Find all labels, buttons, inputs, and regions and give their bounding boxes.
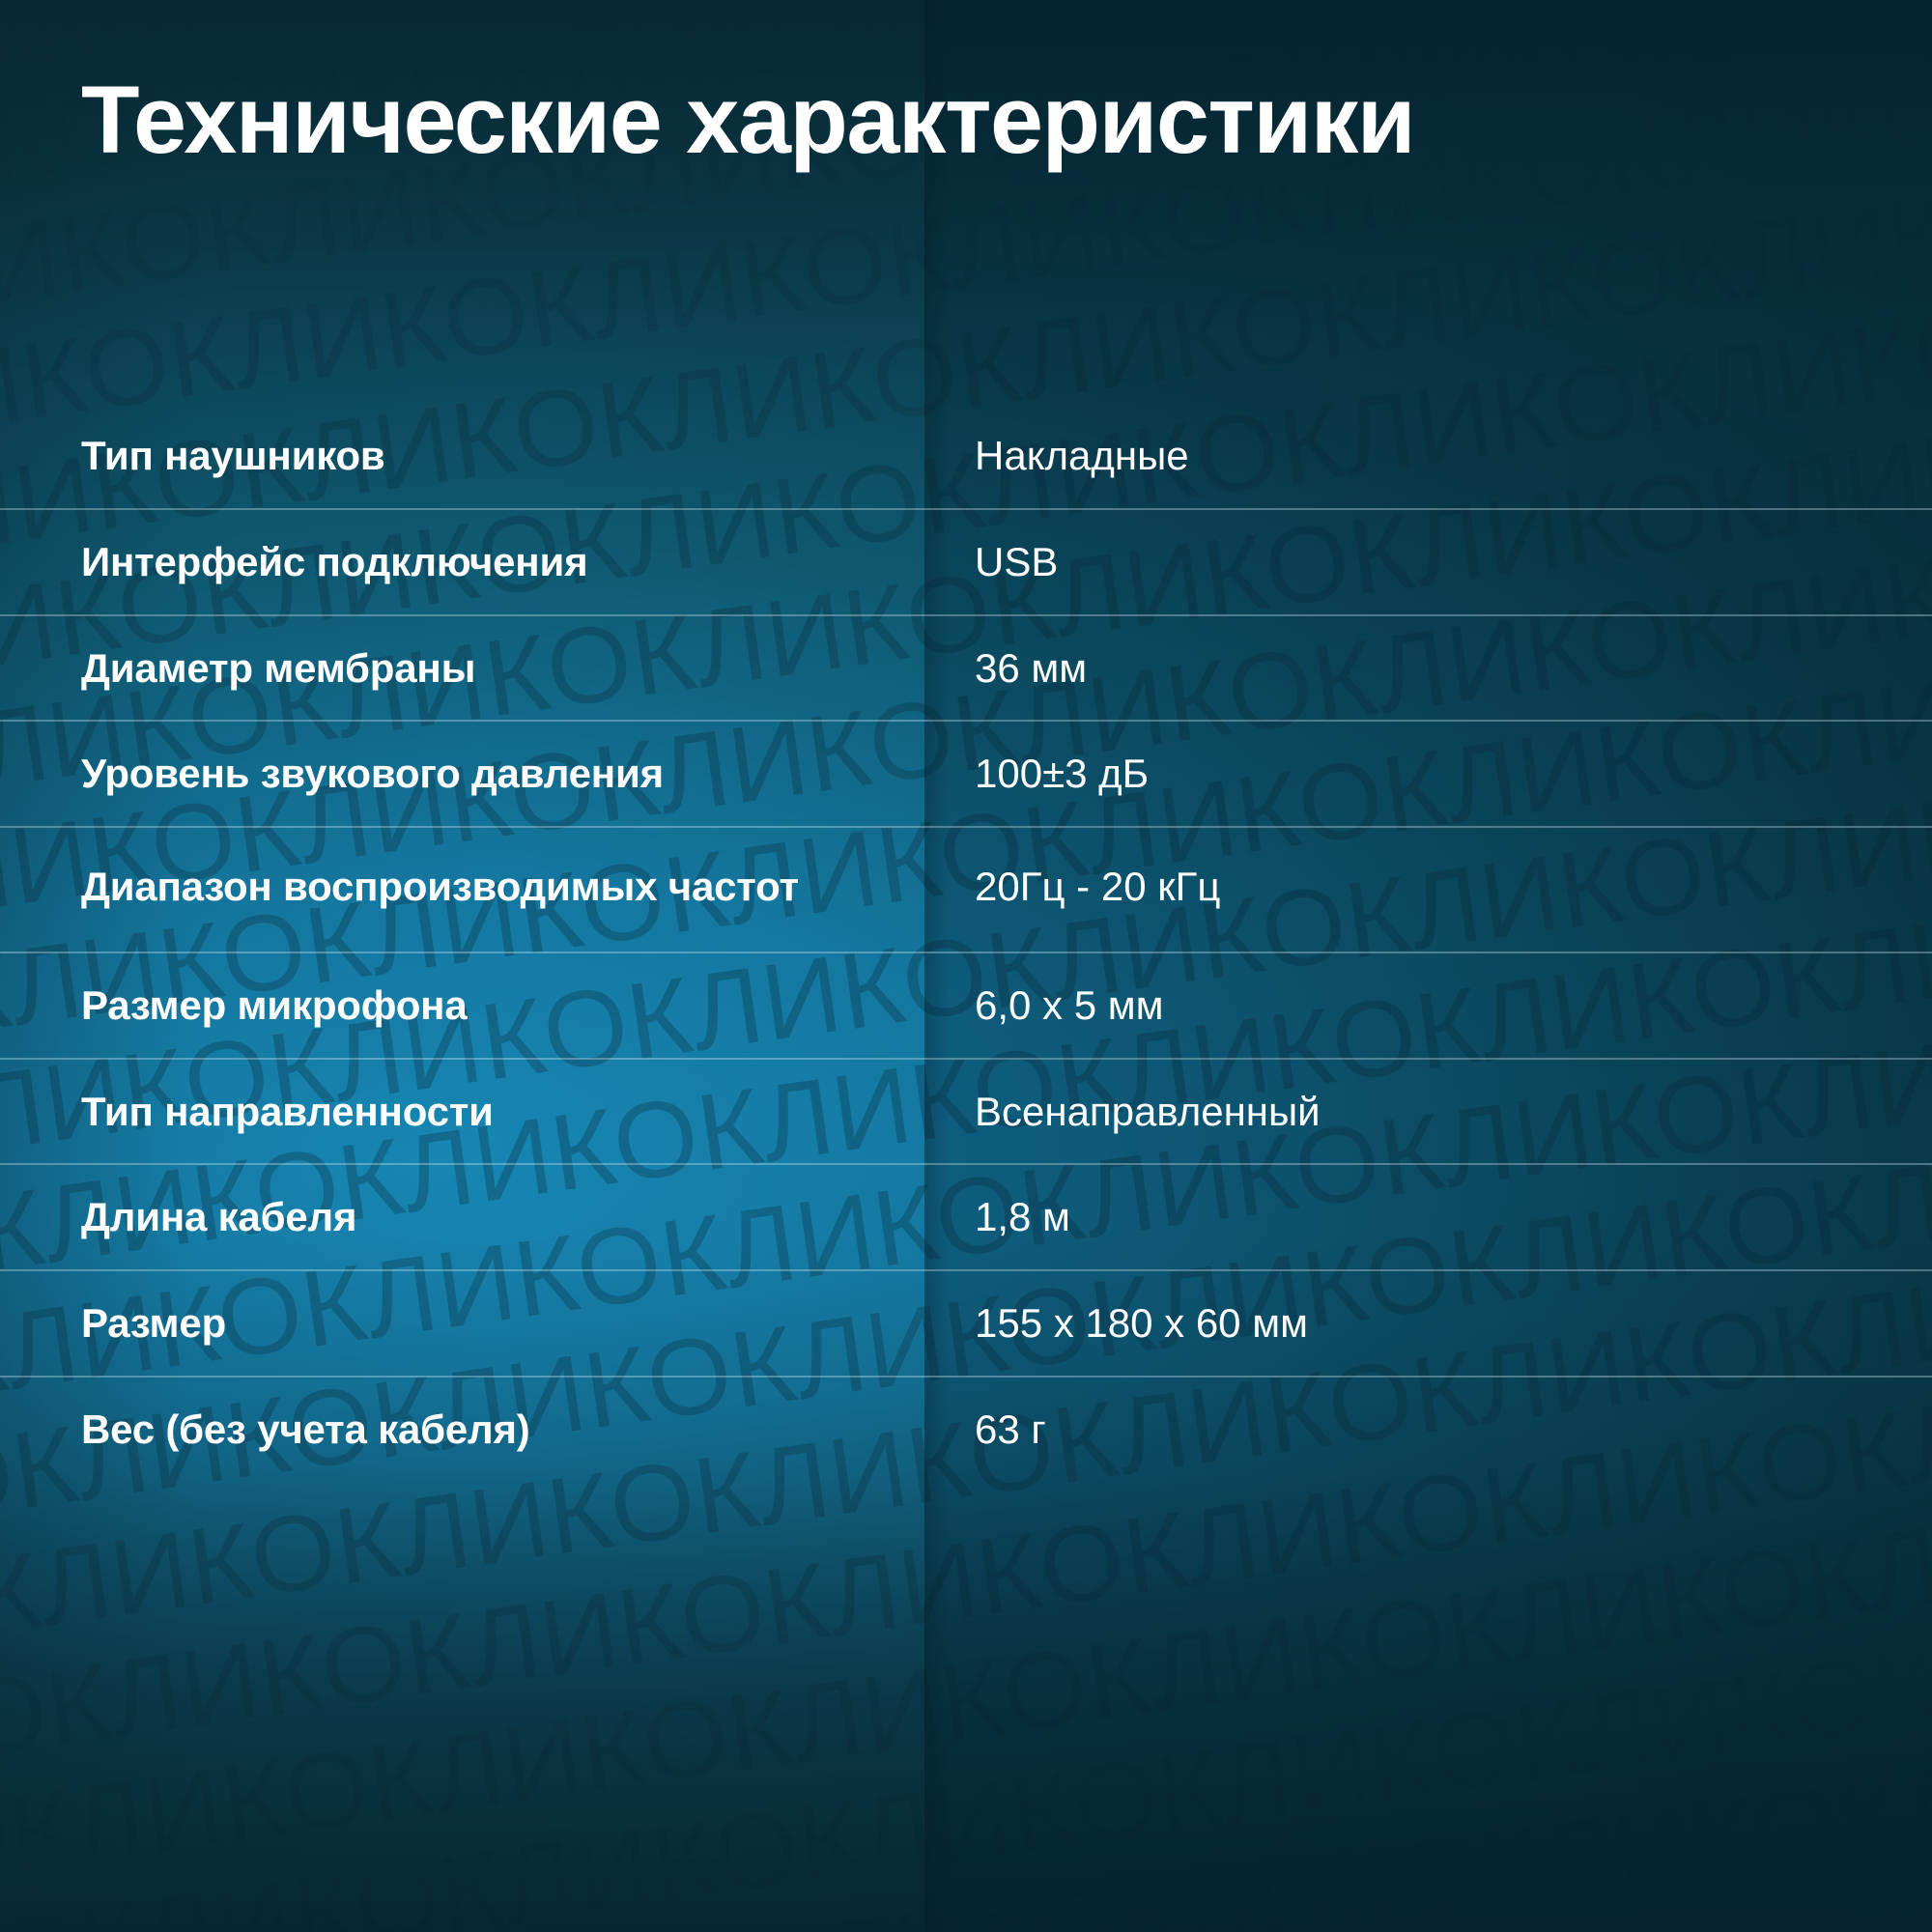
spec-value: 63 г bbox=[924, 1378, 1932, 1482]
specifications-table: Тип наушниковНакладныеИнтерфейс подключе… bbox=[0, 404, 1932, 1482]
spec-value: 20Гц - 20 кГц bbox=[924, 828, 1932, 952]
spec-value: 155 x 180 x 60 мм bbox=[924, 1271, 1932, 1376]
spec-label: Диаметр мембраны bbox=[0, 616, 924, 721]
spec-value: 36 мм bbox=[924, 616, 1932, 721]
page-title: Технические характеристики bbox=[81, 70, 1859, 170]
page-content: Технические характеристики Тип наушников… bbox=[0, 0, 1932, 1932]
spec-label: Уровень звукового давления bbox=[0, 722, 924, 826]
spec-label: Тип направленности bbox=[0, 1060, 924, 1164]
spec-value: Всенаправленный bbox=[924, 1060, 1932, 1164]
spec-label: Диапазон воспроизводимых частот bbox=[0, 828, 924, 952]
spec-value: 6,0 x 5 мм bbox=[924, 953, 1932, 1058]
spec-row: Диапазон воспроизводимых частот20Гц - 20… bbox=[0, 826, 1932, 952]
spec-value: Накладные bbox=[924, 404, 1932, 508]
spec-sheet-page: КЛИКОКЛИКОКЛИКОКЛИКОКЛИКОКЛИКОКЛИКОКЛИКО… bbox=[0, 0, 1932, 1932]
spec-label: Размер микрофона bbox=[0, 953, 924, 1058]
spec-row: Диаметр мембраны36 мм bbox=[0, 614, 1932, 721]
spec-row: Размер микрофона6,0 x 5 мм bbox=[0, 952, 1932, 1058]
spec-value: USB bbox=[924, 510, 1932, 614]
spec-label: Интерфейс подключения bbox=[0, 510, 924, 614]
spec-row: Тип наушниковНакладные bbox=[0, 404, 1932, 508]
spec-label: Длина кабеля bbox=[0, 1165, 924, 1269]
spec-value: 1,8 м bbox=[924, 1165, 1932, 1269]
spec-value: 100±3 дБ bbox=[924, 722, 1932, 826]
spec-row: Длина кабеля1,8 м bbox=[0, 1163, 1932, 1269]
spec-row: Размер155 x 180 x 60 мм bbox=[0, 1269, 1932, 1376]
spec-row: Уровень звукового давления100±3 дБ bbox=[0, 720, 1932, 826]
spec-label: Тип наушников bbox=[0, 404, 924, 508]
spec-row: Тип направленностиВсенаправленный bbox=[0, 1058, 1932, 1164]
spec-label: Вес (без учета кабеля) bbox=[0, 1378, 924, 1482]
spec-row: Вес (без учета кабеля)63 г bbox=[0, 1376, 1932, 1482]
spec-row: Интерфейс подключенияUSB bbox=[0, 508, 1932, 614]
spec-label: Размер bbox=[0, 1271, 924, 1376]
